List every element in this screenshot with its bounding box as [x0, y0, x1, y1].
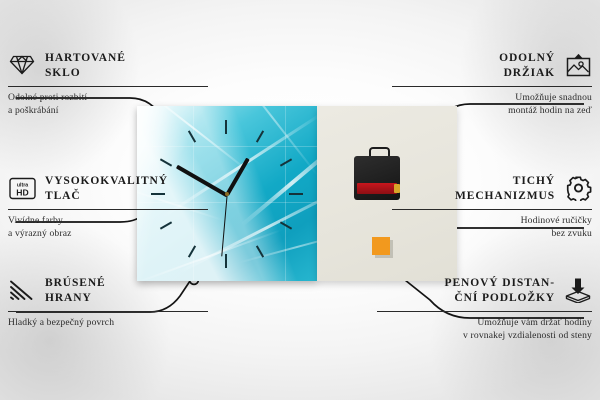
feature-title-line1: BRÚSENÉ	[45, 276, 106, 291]
feature-desc-line1: Hladký a bezpečný povrch	[8, 317, 208, 330]
feature-title-line2: TLAČ	[45, 189, 168, 204]
feature-title-line1: VYSOKOKVALITNÝ	[45, 174, 168, 189]
clock-tick	[225, 120, 227, 134]
foam-spacer-icon	[564, 276, 592, 304]
feature-silent-mechanism: TICHÝ MECHANIZMUS Hodinové ručičky bez z…	[392, 173, 592, 241]
feature-durable-hanger: ODOLNÝ DRŽIAK Umožňuje snadnou montáž ho…	[392, 50, 592, 118]
feature-divider	[377, 311, 592, 312]
ground-edges-icon	[8, 276, 36, 304]
feature-title-line2: HRANY	[45, 291, 106, 306]
feature-description: Umožňuje vám držať hodiny v rovnakej vzd…	[377, 317, 592, 343]
feature-title: ODOLNÝ DRŽIAK	[499, 50, 555, 81]
feature-title: PENOVÝ DISTAN- ČNÍ PODLOŽKY	[445, 275, 555, 306]
feature-title-line2: ČNÍ PODLOŽKY	[445, 291, 555, 306]
clock-tick	[188, 130, 196, 142]
feature-divider	[392, 86, 592, 87]
feature-title: HARTOVANÉ SKLO	[45, 50, 126, 81]
feature-title-line1: PENOVÝ DISTAN-	[445, 276, 555, 291]
ultra-hd-icon: ultra HD	[8, 174, 36, 202]
feature-tempered-glass: HARTOVANÉ SKLO Odolné proti rozbití a po…	[8, 50, 208, 118]
feature-desc-line1: Vivídne farby	[8, 215, 208, 228]
clock-tick	[225, 254, 227, 268]
feature-title-line1: TICHÝ	[455, 174, 555, 189]
feature-high-quality-print: ultra HD VYSOKOKVALITNÝ TLAČ Vivídne far…	[8, 173, 208, 241]
feature-title: VYSOKOKVALITNÝ TLAČ	[45, 173, 168, 204]
feature-desc-line1: Odolné proti rozbití	[8, 92, 208, 105]
feature-desc-line1: Hodinové ručičky	[392, 215, 592, 228]
feature-title-line2: DRŽIAK	[499, 66, 555, 81]
feature-desc-line2: a poškrábání	[8, 105, 208, 118]
feature-desc-line2: a výrazný obraz	[8, 228, 208, 241]
clock-tick	[160, 158, 172, 166]
feature-description: Umožňuje snadnou montáž hodin na zeď	[392, 92, 592, 118]
feature-divider	[8, 86, 208, 87]
feature-title-line1: HARTOVANÉ	[45, 51, 126, 66]
feature-title-line2: MECHANIZMUS	[455, 189, 555, 204]
feature-divider	[8, 209, 208, 210]
feature-description: Odolné proti rozbití a poškrábání	[8, 92, 208, 118]
foam-spacer-pad	[372, 237, 390, 255]
feature-divider	[392, 209, 592, 210]
feature-desc-line1: Umožňuje vám držať hodiny	[377, 317, 592, 330]
clock-center-cap	[225, 192, 229, 196]
product-infographic: HARTOVANÉ SKLO Odolné proti rozbití a po…	[0, 0, 600, 400]
clock-tick	[256, 130, 264, 142]
feature-description: Vivídne farby a výrazný obraz	[8, 215, 208, 241]
feature-title: TICHÝ MECHANIZMUS	[455, 173, 555, 204]
gear-icon	[564, 174, 592, 202]
clock-tick	[289, 193, 303, 195]
clock-tick	[280, 158, 292, 166]
picture-hanger-icon	[564, 51, 592, 79]
feature-desc-line1: Umožňuje snadnou	[392, 92, 592, 105]
feature-description: Hladký a bezpečný povrch	[8, 317, 208, 330]
feature-desc-line2: montáž hodin na zeď	[392, 105, 592, 118]
feature-title: BRÚSENÉ HRANY	[45, 275, 106, 306]
feature-foam-spacers: PENOVÝ DISTAN- ČNÍ PODLOŽKY Umožňuje vám…	[377, 275, 592, 343]
feature-desc-line2: bez zvuku	[392, 228, 592, 241]
feature-divider	[8, 311, 208, 312]
feature-title-line1: ODOLNÝ	[499, 51, 555, 66]
feature-desc-line2: v rovnakej vzdialenosti od steny	[377, 330, 592, 343]
feature-title-line2: SKLO	[45, 66, 126, 81]
svg-text:HD: HD	[16, 187, 28, 197]
feature-ground-edges: BRÚSENÉ HRANY Hladký a bezpečný povrch	[8, 275, 208, 330]
battery	[357, 183, 397, 194]
diamond-icon	[8, 51, 36, 79]
feature-description: Hodinové ručičky bez zvuku	[392, 215, 592, 241]
clock-tick	[188, 245, 196, 257]
